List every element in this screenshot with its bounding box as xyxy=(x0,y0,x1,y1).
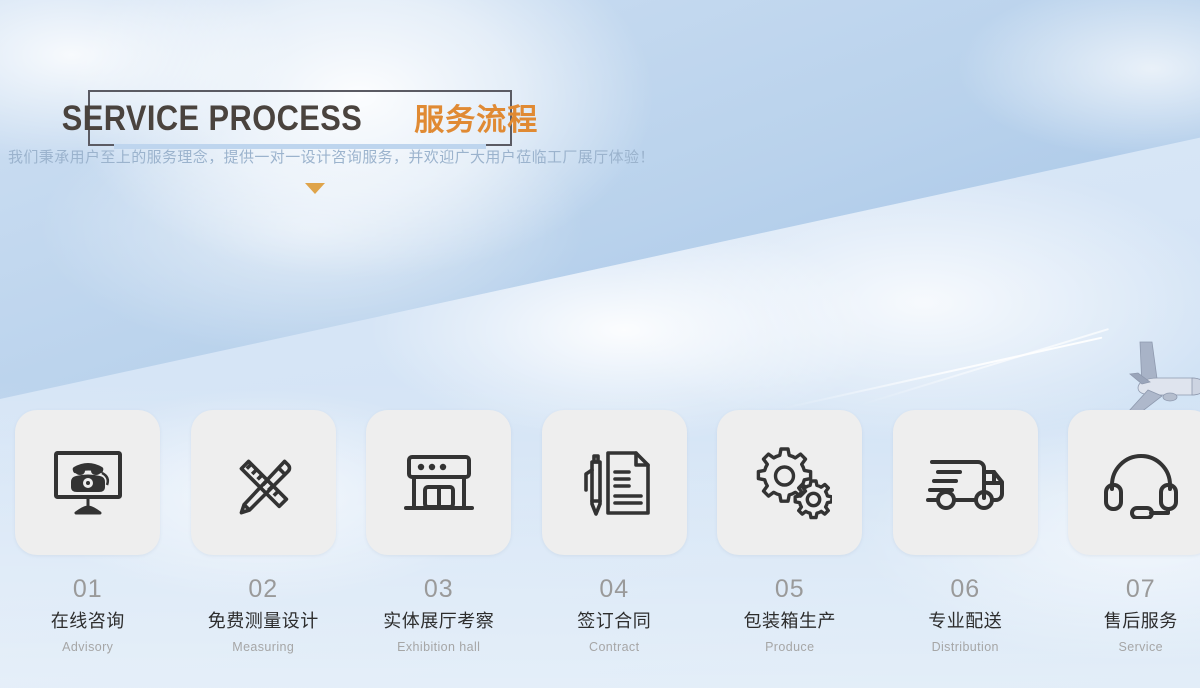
step-number: 01 xyxy=(73,577,103,602)
section-subtitle: 我们秉承用户至上的服务理念，提供一对一设计咨询服务，并欢迎广大用户莅临工厂展厅体… xyxy=(8,146,655,167)
step-label-cn: 实体展厅考察 xyxy=(383,613,494,631)
step-label-en: Contract xyxy=(589,641,639,654)
step-icon-card[interactable] xyxy=(366,410,511,555)
service-step-03[interactable]: 03 实体展厅考察 Exhibition hall xyxy=(351,410,527,654)
page-title-en: SERVICE PROCESS xyxy=(62,99,362,139)
service-step-06[interactable]: 06 专业配送 Distribution xyxy=(878,410,1054,654)
step-number: 03 xyxy=(424,577,454,602)
step-icon-card[interactable] xyxy=(191,410,336,555)
page-title-cn: 服务流程 xyxy=(414,95,538,139)
step-icon-card[interactable] xyxy=(15,410,160,555)
step-number: 04 xyxy=(599,577,629,602)
step-icon-card[interactable] xyxy=(717,410,862,555)
service-steps-list: 01 在线咨询 Advisory xyxy=(0,410,1200,670)
step-label-cn: 包装箱生产 xyxy=(744,613,837,631)
step-icon-card[interactable] xyxy=(542,410,687,555)
page-title: SERVICE PROCESS 服务流程 xyxy=(62,95,538,139)
step-label-cn: 免费测量设计 xyxy=(208,613,319,631)
headset-icon xyxy=(1101,447,1181,519)
service-step-01[interactable]: 01 在线咨询 Advisory xyxy=(0,410,176,654)
step-number: 06 xyxy=(950,577,980,602)
triangle-marker-icon xyxy=(305,183,325,194)
pen-document-icon xyxy=(574,446,654,520)
service-step-04[interactable]: 04 签订合同 Contract xyxy=(527,410,703,654)
service-step-07[interactable]: 07 售后服务 Service xyxy=(1053,410,1200,654)
airplane-icon xyxy=(1118,340,1200,420)
step-label-cn: 在线咨询 xyxy=(51,613,125,631)
step-label-en: Distribution xyxy=(932,641,999,654)
step-label-en: Exhibition hall xyxy=(397,641,480,654)
delivery-truck-icon xyxy=(920,450,1010,516)
step-label-cn: 售后服务 xyxy=(1104,613,1178,631)
ruler-pencil-icon xyxy=(223,447,303,519)
service-step-02[interactable]: 02 免费测量设计 Measuring xyxy=(176,410,352,654)
step-label-en: Advisory xyxy=(62,641,113,654)
step-label-cn: 签订合同 xyxy=(577,613,651,631)
step-icon-card[interactable] xyxy=(1068,410,1200,555)
storefront-icon xyxy=(399,447,479,519)
step-number: 02 xyxy=(248,577,278,602)
monitor-phone-icon xyxy=(48,447,128,519)
step-number: 07 xyxy=(1126,577,1156,602)
section-heading-frame: SERVICE PROCESS 服务流程 xyxy=(88,90,512,146)
gears-icon xyxy=(748,445,832,521)
step-label-en: Measuring xyxy=(232,641,294,654)
step-label-cn: 专业配送 xyxy=(928,613,1002,631)
step-number: 05 xyxy=(775,577,805,602)
step-label-en: Service xyxy=(1119,641,1163,654)
step-icon-card[interactable] xyxy=(893,410,1038,555)
service-process-section: SERVICE PROCESS 服务流程 我们秉承用户至上的服务理念，提供一对一… xyxy=(0,0,1200,688)
step-label-en: Produce xyxy=(765,641,814,654)
service-step-05[interactable]: 05 包装箱生产 Produce xyxy=(702,410,878,654)
